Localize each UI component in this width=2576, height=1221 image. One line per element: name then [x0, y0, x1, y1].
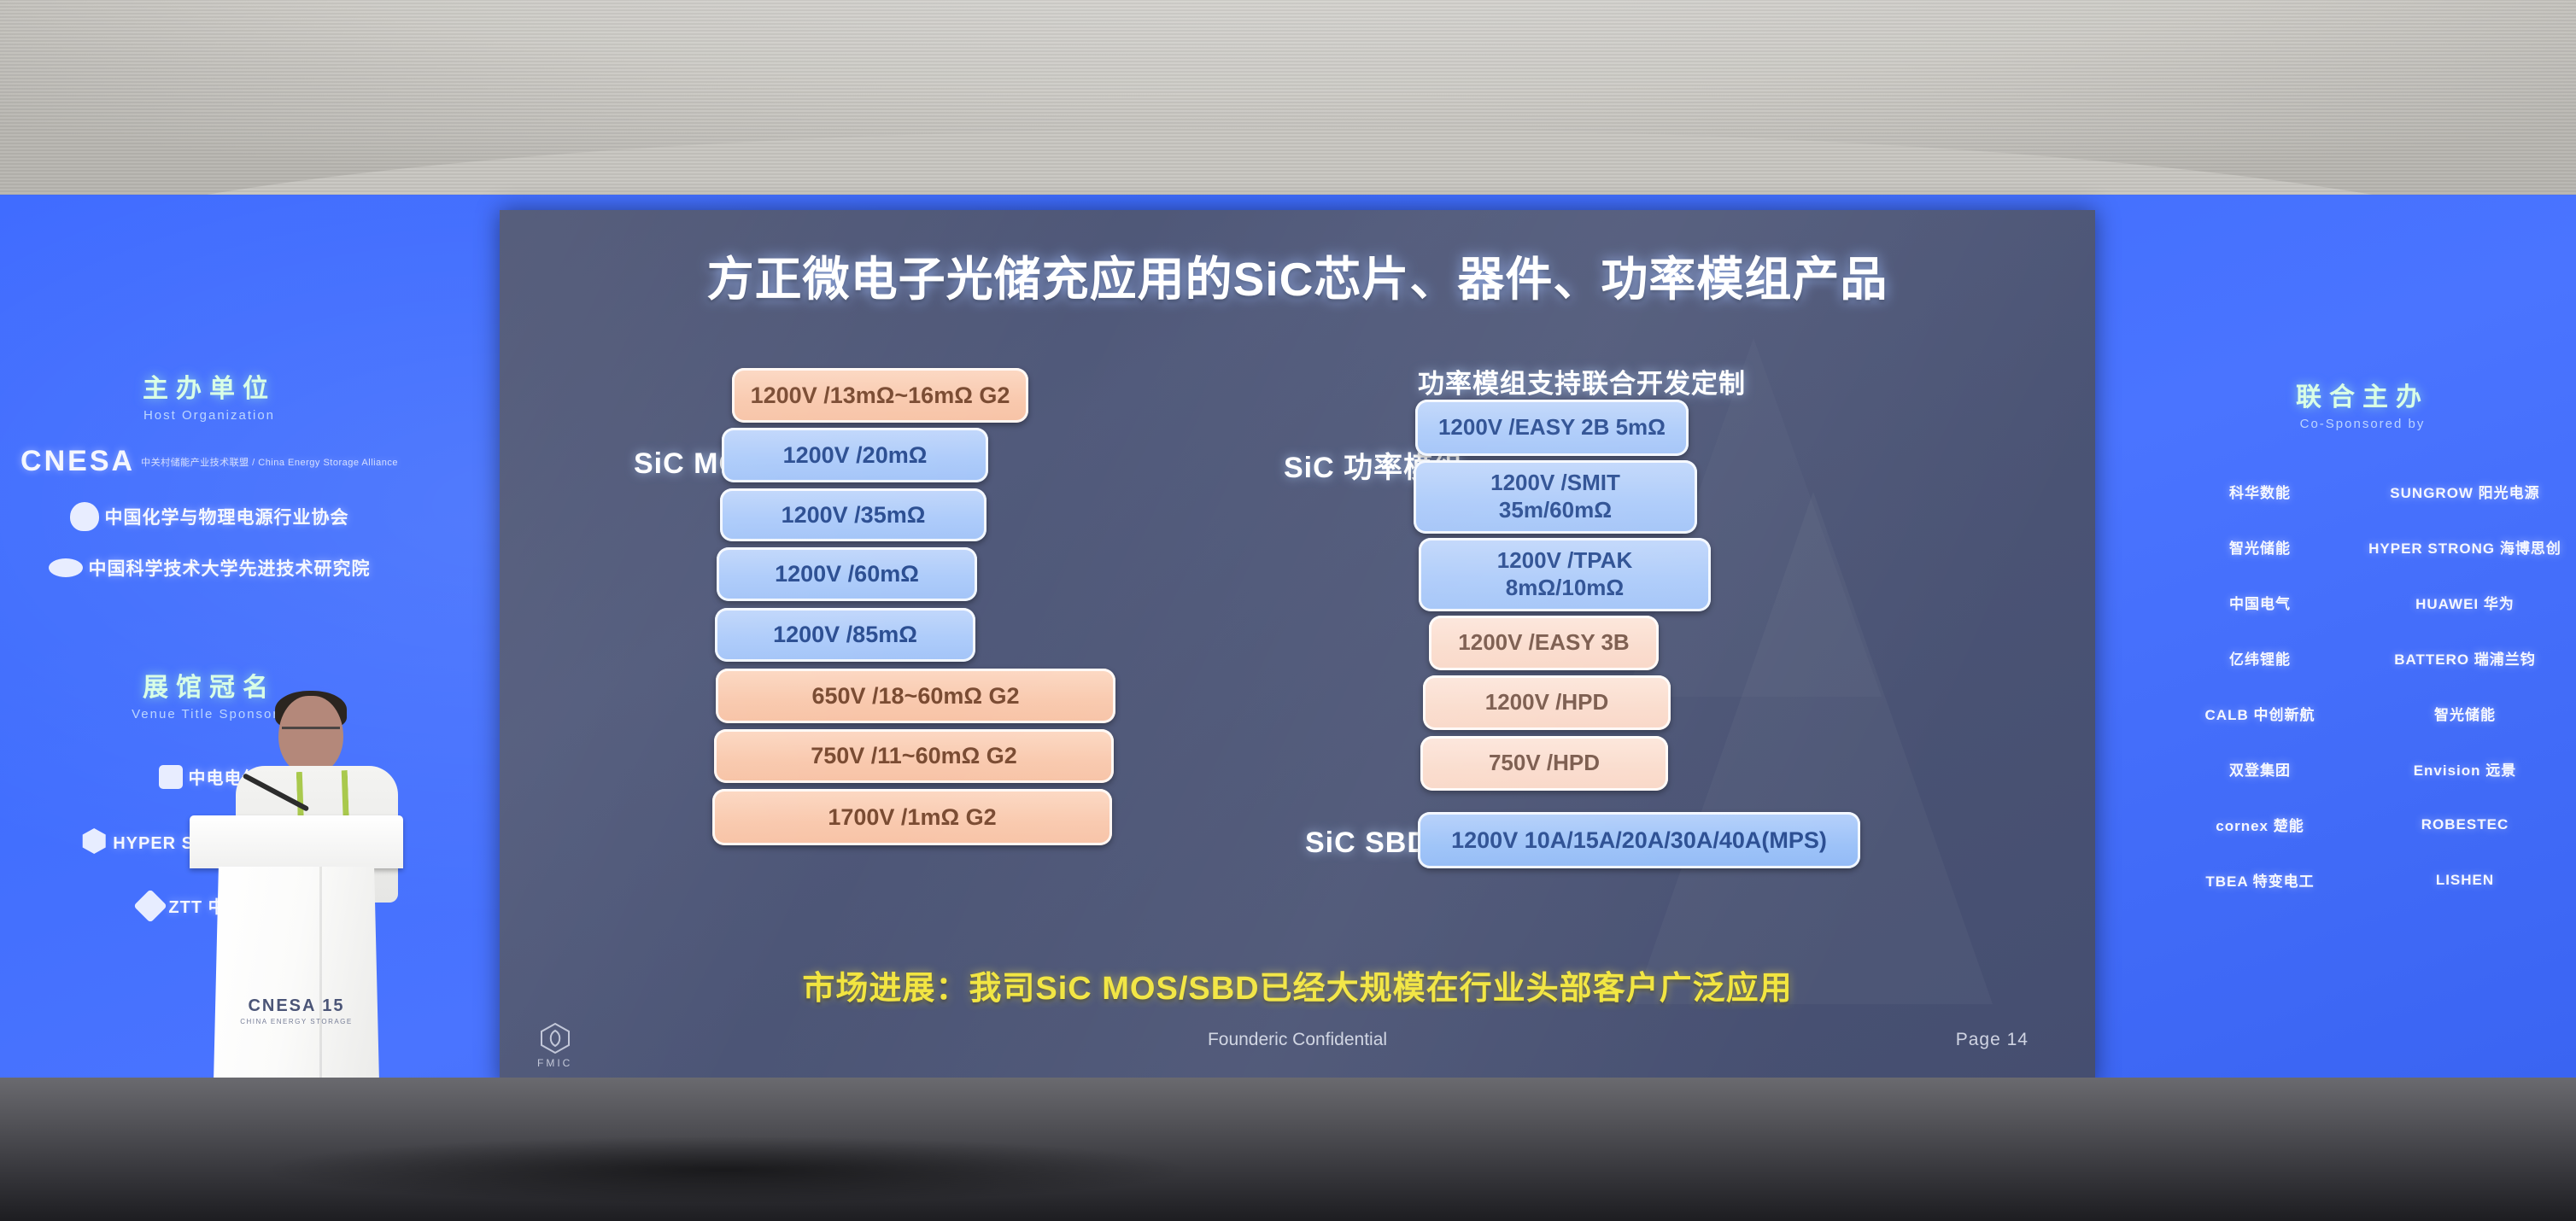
cosponsor-heading-en: Co-Sponsored by	[2157, 417, 2567, 431]
hexagon-mark-icon	[81, 828, 107, 854]
host-organization-panel: 主办单位 Host Organization CNESA 中关村储能产业技术联盟…	[17, 367, 401, 581]
podium-logo-main: CNESA 15	[190, 996, 403, 1016]
projection-screen: 方正微电子光储充应用的SiC芯片、器件、功率模组产品 SiC MOS 1200V…	[500, 210, 2095, 1088]
logo-hyperstrong-2: HYPER STRONG 海博思创	[2368, 536, 2561, 558]
podium-logo-sub: CHINA ENERGY STORAGE	[190, 1018, 403, 1025]
cosponsor-cell: TBEA 特变电工	[2157, 852, 2362, 908]
logo-cnesa-sub: 中关村储能产业技术联盟 / China Energy Storage Allia…	[141, 455, 398, 469]
cosponsor-cell: cornex 楚能	[2157, 797, 2362, 852]
logo-cornex: cornex 楚能	[2216, 814, 2304, 835]
slide-footer: FMIC Founderic Confidential Page 14	[500, 1018, 2095, 1069]
sic-mos-item-1: 1200V /20mΩ	[722, 428, 988, 482]
logo-cnesa-name: CNESA	[20, 445, 135, 478]
logo-huawei: HUAWEI 华为	[2415, 592, 2515, 613]
cosponsor-logo-grid: 科华数能 SUNGROW 阳光电源 智光储能 HYPER STRONG 海博思创…	[2157, 464, 2567, 908]
cosponsor-cell: HYPER STRONG 海博思创	[2362, 519, 2567, 575]
diamond-mark-icon	[134, 889, 168, 923]
fmic-caption: FMIC	[537, 1057, 572, 1069]
page-number: Page 14	[1956, 1030, 2029, 1050]
logo-eve: 亿纬锂能	[2229, 647, 2291, 669]
host-heading-en: Host Organization	[17, 408, 401, 423]
power-module-item-2: 1200V /TPAK 8mΩ/10mΩ	[1419, 538, 1711, 611]
cosponsor-cell: 中国电气	[2157, 575, 2362, 630]
cosponsor-cell: SUNGROW 阳光电源	[2362, 464, 2567, 519]
sic-sbd-label: SiC SBD	[1305, 827, 1429, 860]
power-module-item-1-line2: 35m/60mΩ	[1499, 497, 1612, 524]
power-module-note: 功率模组支持联合开发定制	[1418, 362, 1746, 400]
podium-logo: CNESA 15 CHINA ENERGY STORAGE	[190, 996, 403, 1025]
power-module-item-2-line2: 8mΩ/10mΩ	[1506, 575, 1625, 602]
host-heading-cn: 主办单位	[17, 367, 401, 405]
speaker-glasses	[282, 727, 340, 741]
sic-mos-item-7: 1700V /1mΩ G2	[712, 789, 1112, 845]
host-logo-grid: CNESA 中关村储能产业技术联盟 / China Energy Storage…	[17, 445, 401, 581]
logo-shuangdeng: 双登集团	[2229, 758, 2291, 780]
logo-cnesa: CNESA 中关村储能产业技术联盟 / China Energy Storage…	[20, 445, 398, 478]
sic-mos-item-0: 1200V /13mΩ~16mΩ G2	[732, 368, 1028, 423]
logo-robestec: ROBESTEC	[2421, 816, 2509, 833]
cosponsor-cell: 亿纬锂能	[2157, 630, 2362, 686]
sic-mos-item-3: 1200V /60mΩ	[717, 547, 977, 601]
sic-sbd-item-0: 1200V 10A/15A/20A/30A/40A(MPS)	[1418, 812, 1860, 868]
cosponsor-cell: BATTERO 瑞浦兰钧	[2362, 630, 2567, 686]
power-module-item-0: 1200V /EASY 2B 5mΩ	[1415, 400, 1689, 456]
market-progress-note: 市场进展：我司SiC MOS/SBD已经大规模在行业头部客户广泛应用	[500, 961, 2095, 1008]
logo-zhiguang: 智光储能	[2229, 536, 2291, 558]
co-sponsors-panel: 联合主办 Co-Sponsored by 科华数能 SUNGROW 阳光电源 智…	[2157, 376, 2567, 908]
logo-battero: BATTERO 瑞浦兰钧	[2394, 647, 2536, 669]
podium-floor-shadow	[256, 1136, 1196, 1204]
cosponsor-heading-cn: 联合主办	[2157, 376, 2567, 413]
sic-mos-item-6: 750V /11~60mΩ G2	[714, 729, 1114, 783]
logo-kehua: 科华数能	[2229, 481, 2291, 502]
power-module-item-5: 750V /HPD	[1420, 736, 1668, 791]
sic-mos-item-4: 1200V /85mΩ	[715, 608, 975, 662]
sic-mos-item-2: 1200V /35mΩ	[720, 488, 986, 541]
logo-ustc: 中国科学技术大学先进技术研究院	[49, 555, 371, 581]
power-module-item-1: 1200V /SMIT 35m/60mΩ	[1414, 460, 1697, 534]
logo-tbea: TBEA 特变电工	[2205, 869, 2314, 891]
cosponsor-cell: HUAWEI 华为	[2362, 575, 2567, 630]
logo-sungrow: SUNGROW 阳光电源	[2390, 481, 2539, 502]
power-module-item-1-line1: 1200V /SMIT	[1490, 470, 1620, 497]
power-module-item-4: 1200V /HPD	[1423, 675, 1671, 730]
logo-lishen: LISHEN	[2436, 872, 2494, 889]
cosponsor-cell: 双登集团	[2157, 741, 2362, 797]
logo-cers: 中国化学与物理电源行业协会	[70, 502, 349, 531]
cosponsor-cell: 智光储能	[2362, 686, 2567, 741]
cosponsor-cell: CALB 中创新航	[2157, 686, 2362, 741]
confidential-notice: Founderic Confidential	[500, 1030, 2095, 1050]
lotus-mark-icon	[70, 502, 99, 531]
ceiling	[0, 0, 2576, 209]
wave-mark-icon	[49, 558, 83, 577]
power-module-item-2-line1: 1200V /TPAK	[1497, 547, 1632, 575]
logo-zhongdian: 中国电气	[2229, 592, 2291, 613]
logo-zhiguang-2: 智光储能	[2434, 703, 2496, 724]
cosponsor-cell: 智光储能	[2157, 519, 2362, 575]
power-module-item-3: 1200V /EASY 3B	[1429, 616, 1659, 670]
logo-calb: CALB 中创新航	[2205, 703, 2315, 724]
cosponsor-cell: Envision 远景	[2362, 741, 2567, 797]
logo-envision: Envision 远景	[2414, 758, 2517, 780]
slide-title: 方正微电子光储充应用的SiC芯片、器件、功率模组产品	[500, 241, 2095, 309]
square-mark-icon	[159, 765, 183, 789]
logo-ustc-name: 中国科学技术大学先进技术研究院	[89, 555, 371, 581]
logo-cers-name: 中国化学与物理电源行业协会	[105, 504, 349, 529]
sic-mos-item-5: 650V /18~60mΩ G2	[716, 669, 1115, 723]
cosponsor-cell: 科华数能	[2157, 464, 2362, 519]
cosponsor-cell: LISHEN	[2362, 852, 2567, 908]
cosponsor-cell: ROBESTEC	[2362, 797, 2567, 852]
venue-stage-scene: 主办单位 Host Organization CNESA 中关村储能产业技术联盟…	[0, 0, 2576, 1221]
podium-top	[190, 815, 403, 868]
